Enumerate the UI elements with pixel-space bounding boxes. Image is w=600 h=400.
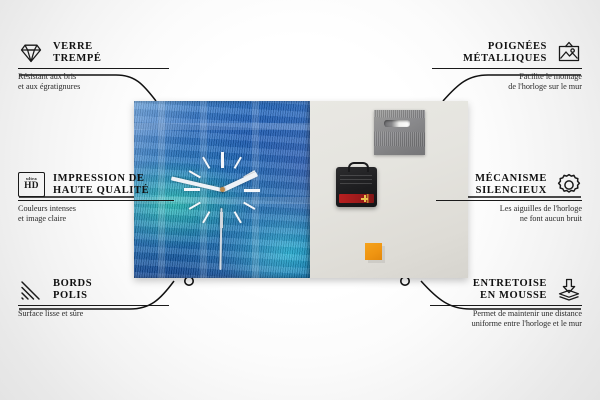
callout-bords-polis: BORDS POLIS Surface lisse et sûre	[18, 277, 178, 319]
callout-entretoise-en-mousse: ENTRETOISE EN MOUSSE Permet de maintenir…	[422, 277, 582, 330]
callout-title: VERRE TREMPÉ	[53, 41, 102, 66]
callout-impression-haute-qualite: ultra HD IMPRESSION DE HAUTE QUALITÉ Cou…	[18, 172, 188, 225]
callout-rule	[432, 68, 582, 69]
marker-entretoise	[401, 277, 409, 285]
callout-subtitle: Permet de maintenir une distance uniform…	[422, 309, 582, 329]
callout-subtitle: Résistant aux bris et aux égratignures	[18, 72, 178, 92]
gear-icon	[556, 172, 582, 198]
hanging-frame-icon	[556, 40, 582, 66]
callout-title: BORDS POLIS	[53, 278, 92, 303]
callout-rule	[18, 68, 169, 69]
callout-title: MÉCANISME SILENCIEUX	[475, 173, 547, 198]
callout-title: IMPRESSION DE HAUTE QUALITÉ	[53, 173, 149, 198]
callout-title: POIGNÉES MÉTALLIQUES	[463, 41, 547, 66]
callout-rule	[430, 305, 582, 306]
callout-rule	[436, 200, 582, 201]
callout-subtitle: Surface lisse et sûre	[18, 309, 178, 319]
callout-mecanisme-silencieux: MÉCANISME SILENCIEUX Les aiguilles de l'…	[428, 172, 582, 225]
callout-verre-trempe: VERRE TREMPÉ Résistant aux bris et aux é…	[18, 40, 178, 93]
diamond-icon	[18, 40, 44, 66]
callout-subtitle: Facilite le montage de l'horloge sur le …	[424, 72, 582, 92]
callout-title: ENTRETOISE EN MOUSSE	[473, 278, 547, 303]
ultra-hd-icon: ultra HD	[18, 172, 44, 198]
callout-subtitle: Les aiguilles de l'horloge ne font aucun…	[428, 204, 582, 224]
ultra-hd-icon-main-label: HD	[24, 182, 39, 191]
callout-rule	[18, 305, 169, 306]
metal-hanger-plate	[374, 110, 425, 155]
callout-subtitle: Couleurs intenses et image claire	[18, 204, 188, 224]
callout-poignees-metalliques: POIGNÉES MÉTALLIQUES Facilite le montage…	[424, 40, 582, 93]
marker-bords	[185, 277, 193, 285]
callout-rule	[18, 200, 174, 201]
foam-spacer	[365, 243, 382, 260]
polished-edge-icon	[18, 277, 44, 303]
infographic-canvas: VERRE TREMPÉ Résistant aux bris et aux é…	[0, 0, 600, 400]
clock-mechanism	[336, 167, 377, 207]
arrow-onto-pad-icon	[556, 277, 582, 303]
